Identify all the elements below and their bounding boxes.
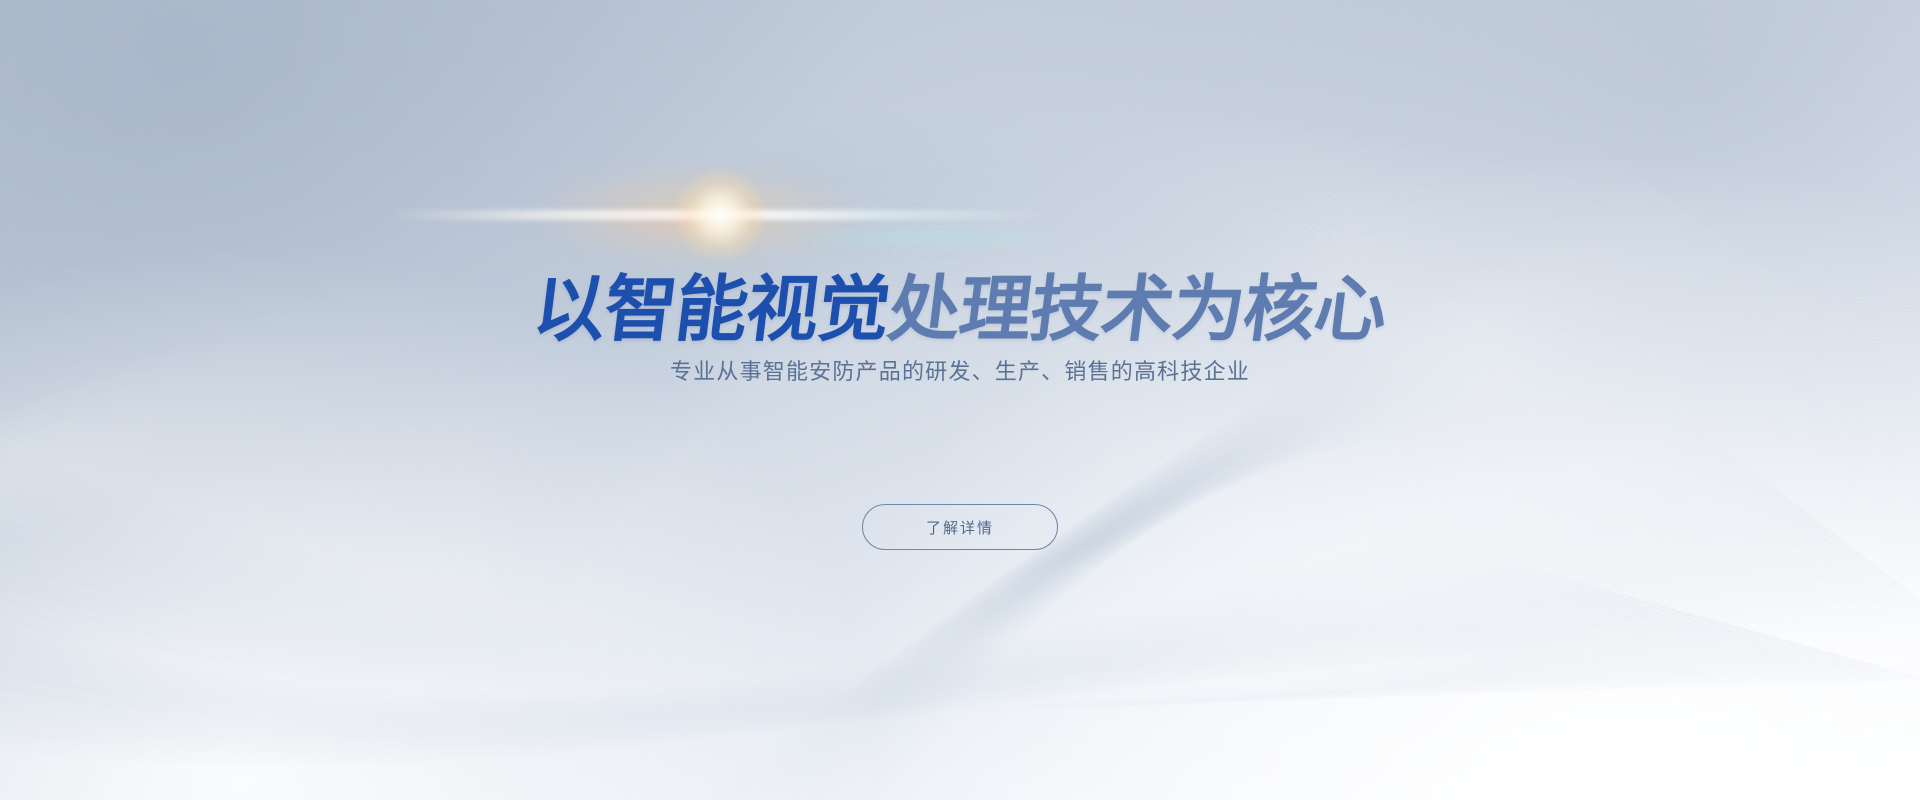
hero-content: 以智能视觉处理技术为核心 专业从事智能安防产品的研发、生产、销售的高科技企业 了… bbox=[0, 0, 1920, 800]
headline-segment-primary: 以智能视觉 bbox=[529, 270, 894, 348]
page-title: 以智能视觉处理技术为核心 bbox=[0, 270, 1920, 348]
hero-banner: 以智能视觉处理技术为核心 专业从事智能安防产品的研发、生产、销售的高科技企业 了… bbox=[0, 0, 1920, 800]
hero-subtitle: 专业从事智能安防产品的研发、生产、销售的高科技企业 bbox=[0, 354, 1920, 386]
learn-more-button[interactable]: 了解详情 bbox=[862, 504, 1058, 550]
cta-container: 了解详情 bbox=[0, 504, 1920, 550]
headline-segment-secondary: 处理技术为核心 bbox=[884, 270, 1391, 348]
